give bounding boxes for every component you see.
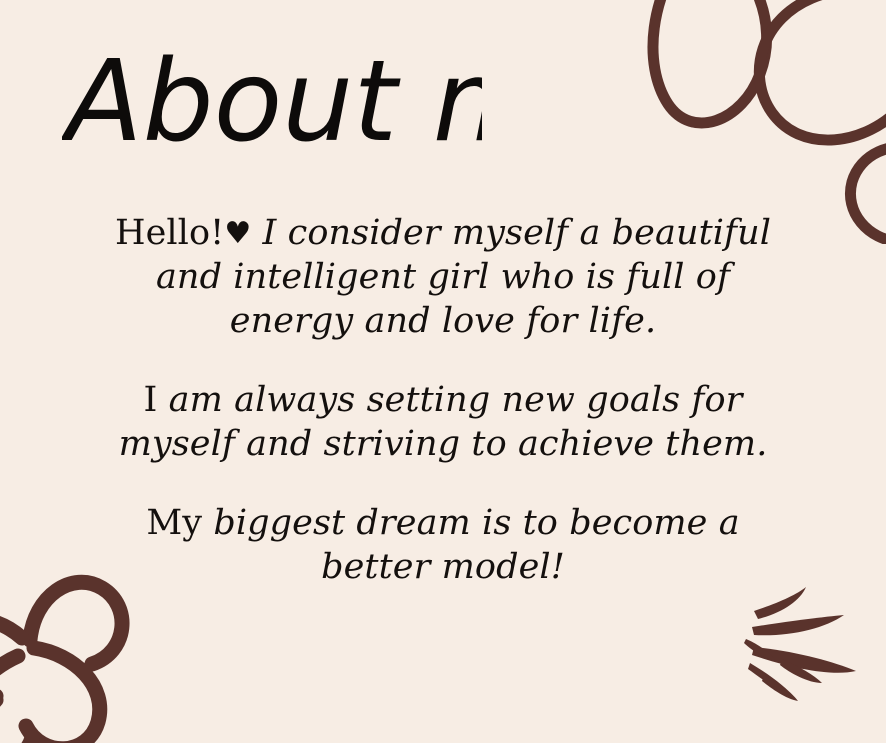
paragraph-2-text: am always setting new goals for myself a… — [119, 380, 768, 464]
page-title-svg: About me — [62, 18, 482, 183]
paragraph-3: My biggest dream is to become a better m… — [93, 502, 793, 590]
page-title: About me — [62, 18, 482, 183]
paragraph-1-lead: Hello! — [115, 213, 224, 253]
about-me-body: Hello!♥ I consider myself a beautiful an… — [93, 212, 793, 589]
loop-scribble-doodle — [620, 0, 886, 244]
paragraph-1: Hello!♥ I consider myself a beautiful an… — [93, 212, 793, 344]
paragraph-2-lead: I — [144, 380, 158, 420]
paragraph-3-text: biggest dream is to become a better mode… — [202, 503, 740, 587]
paragraph-3-lead: My — [146, 503, 202, 543]
page-title-text: About me — [62, 37, 482, 167]
loop-scribble-icon — [620, 0, 886, 244]
about-me-card: About me Hello!♥ I consider myself a bea… — [0, 0, 886, 743]
sparkle-burst-doodle — [738, 583, 880, 701]
paragraph-2: I am always setting new goals for myself… — [93, 379, 793, 467]
sparkle-burst-icon — [738, 583, 880, 701]
heart-icon: ♥ — [224, 216, 251, 251]
